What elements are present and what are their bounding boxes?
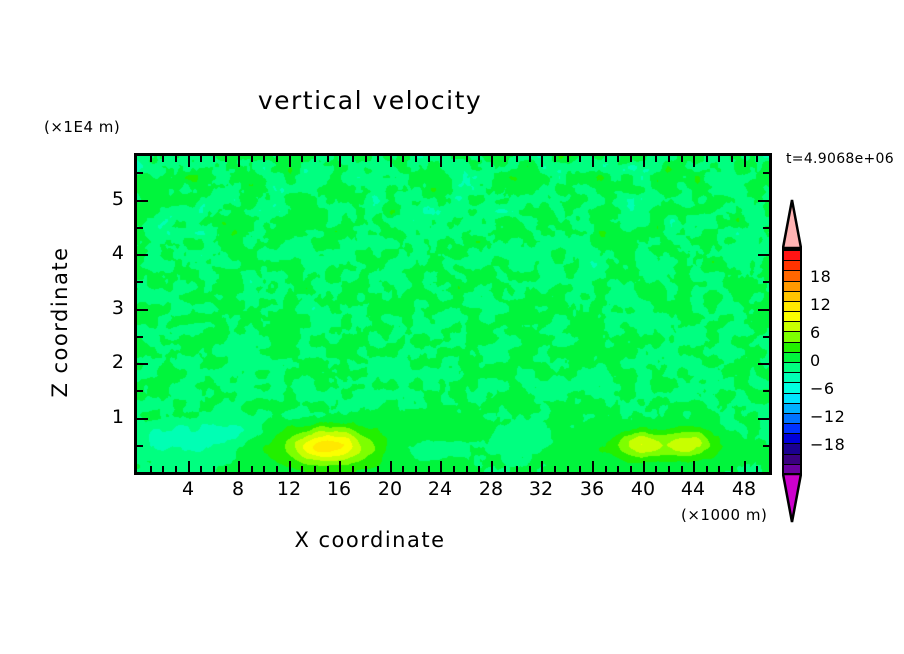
x-tick-label: 32: [521, 478, 561, 500]
tick-mark: [238, 156, 240, 167]
tick-mark: [592, 156, 594, 167]
colorbar-band: [784, 434, 800, 444]
colorbar-label: 0: [810, 351, 821, 370]
tick-mark: [668, 466, 670, 472]
tick-mark: [744, 461, 746, 472]
tick-mark: [718, 466, 720, 472]
tick-mark: [137, 390, 143, 392]
x-tick-label: 36: [572, 478, 612, 500]
tick-mark: [478, 156, 480, 162]
tick-mark: [529, 466, 531, 472]
tick-mark: [415, 466, 417, 472]
colorbar-band: [784, 353, 800, 363]
tick-mark: [428, 466, 430, 472]
y-tick-label: 3: [98, 297, 124, 319]
tick-mark: [554, 156, 556, 162]
tick-mark: [213, 156, 215, 162]
tick-mark: [617, 466, 619, 472]
tick-mark: [655, 156, 657, 162]
tick-mark: [529, 156, 531, 162]
tick-mark: [579, 156, 581, 162]
tick-mark: [289, 461, 291, 472]
colorbar-band: [784, 261, 800, 271]
tick-mark: [763, 390, 769, 392]
tick-mark: [554, 466, 556, 472]
tick-mark: [758, 254, 769, 256]
plot-title: vertical velocity: [0, 86, 740, 115]
tick-mark: [466, 466, 468, 472]
y-axis-title: Z coordinate: [48, 222, 72, 422]
tick-mark: [339, 156, 341, 167]
tick-mark: [706, 466, 708, 472]
tick-mark: [643, 461, 645, 472]
x-tick-label: 28: [471, 478, 511, 500]
x-tick-label: 48: [724, 478, 764, 500]
tick-mark: [188, 461, 190, 472]
tick-mark: [758, 309, 769, 311]
tick-mark: [390, 461, 392, 472]
tick-mark: [137, 254, 148, 256]
tick-mark: [289, 156, 291, 167]
tick-mark: [605, 156, 607, 162]
colorbar-band: [784, 282, 800, 292]
tick-mark: [213, 466, 215, 472]
tick-mark: [137, 336, 143, 338]
x-tick-label: 16: [319, 478, 359, 500]
x-tick-label: 44: [673, 478, 713, 500]
x-axis-title: X coordinate: [0, 528, 740, 552]
tick-mark: [681, 156, 683, 162]
x-tick-label: 8: [218, 478, 258, 500]
tick-mark: [365, 466, 367, 472]
tick-mark: [402, 466, 404, 472]
tick-mark: [137, 418, 148, 420]
tick-mark: [415, 156, 417, 162]
colorbar-over-arrow: [782, 199, 802, 249]
tick-mark: [377, 466, 379, 472]
tick-mark: [504, 156, 506, 162]
tick-mark: [668, 156, 670, 162]
tick-mark: [276, 466, 278, 472]
tick-mark: [655, 466, 657, 472]
tick-mark: [188, 156, 190, 167]
colorbar-band: [784, 271, 800, 281]
tick-mark: [579, 466, 581, 472]
colorbar-band: [784, 383, 800, 393]
plot-area: [134, 153, 772, 475]
tick-mark: [314, 156, 316, 162]
tick-mark: [352, 156, 354, 162]
colorbar: [779, 199, 805, 523]
tick-mark: [263, 156, 265, 162]
tick-mark: [763, 172, 769, 174]
tick-mark: [175, 156, 177, 162]
tick-mark: [758, 200, 769, 202]
tick-mark: [175, 466, 177, 472]
tick-mark: [402, 156, 404, 162]
x-tick-label: 24: [420, 478, 460, 500]
colorbar-band: [784, 444, 800, 454]
tick-mark: [744, 156, 746, 167]
y-axis-unit-label: (×1E4 m): [44, 118, 120, 136]
tick-mark: [428, 156, 430, 162]
tick-mark: [763, 336, 769, 338]
tick-mark: [162, 466, 164, 472]
tick-mark: [200, 156, 202, 162]
y-tick-label: 4: [98, 242, 124, 264]
tick-mark: [643, 156, 645, 167]
tick-mark: [478, 466, 480, 472]
colorbar-band: [784, 404, 800, 414]
colorbar-band: [784, 332, 800, 342]
tick-mark: [605, 466, 607, 472]
y-tick-label: 2: [98, 351, 124, 373]
tick-mark: [758, 363, 769, 365]
tick-mark: [225, 156, 227, 162]
colorbar-band: [784, 424, 800, 434]
tick-mark: [440, 156, 442, 167]
x-tick-label: 4: [168, 478, 208, 500]
tick-mark: [756, 156, 758, 162]
tick-mark: [137, 309, 148, 311]
x-tick-label: 20: [370, 478, 410, 500]
contour-field-canvas: [137, 156, 769, 472]
tick-mark: [150, 156, 152, 162]
tick-mark: [137, 200, 148, 202]
tick-mark: [365, 156, 367, 162]
colorbar-band: [784, 414, 800, 424]
tick-mark: [137, 363, 148, 365]
x-tick-label: 40: [623, 478, 663, 500]
tick-mark: [504, 466, 506, 472]
tick-mark: [225, 466, 227, 472]
timestamp-annotation: t=4.9068e+06: [786, 151, 894, 167]
tick-mark: [162, 156, 164, 162]
colorbar-label: −12: [810, 407, 845, 426]
tick-mark: [491, 156, 493, 167]
tick-mark: [567, 466, 569, 472]
colorbar-band: [784, 322, 800, 332]
tick-mark: [731, 156, 733, 162]
under-arrow-shape: [782, 473, 802, 523]
colorbar-band: [784, 373, 800, 383]
colorbar-band: [784, 455, 800, 465]
y-tick-label: 5: [98, 188, 124, 210]
tick-mark: [137, 281, 143, 283]
tick-mark: [541, 156, 543, 167]
tick-mark: [567, 156, 569, 162]
tick-mark: [466, 156, 468, 162]
tick-mark: [263, 466, 265, 472]
tick-mark: [251, 466, 253, 472]
tick-mark: [756, 466, 758, 472]
tick-mark: [238, 461, 240, 472]
x-axis-unit-label: (×1000 m): [681, 506, 767, 524]
colorbar-band: [784, 251, 800, 261]
tick-mark: [440, 461, 442, 472]
colorbar-label: −6: [810, 379, 835, 398]
tick-mark: [339, 461, 341, 472]
colorbar-band: [784, 363, 800, 373]
tick-mark: [137, 445, 143, 447]
tick-mark: [763, 227, 769, 229]
tick-mark: [327, 156, 329, 162]
tick-mark: [251, 156, 253, 162]
tick-mark: [617, 156, 619, 162]
x-tick-label: 12: [269, 478, 309, 500]
colorbar-bands: [782, 249, 802, 473]
tick-mark: [763, 445, 769, 447]
tick-mark: [706, 156, 708, 162]
colorbar-label: 6: [810, 323, 821, 342]
tick-mark: [516, 156, 518, 162]
tick-mark: [541, 461, 543, 472]
tick-mark: [390, 156, 392, 167]
colorbar-band: [784, 394, 800, 404]
over-arrow-shape: [782, 199, 802, 249]
tick-mark: [137, 227, 143, 229]
tick-mark: [758, 418, 769, 420]
tick-mark: [681, 466, 683, 472]
colorbar-label: 12: [810, 295, 831, 314]
colorbar-label: 18: [810, 267, 831, 286]
tick-mark: [630, 156, 632, 162]
tick-mark: [731, 466, 733, 472]
tick-mark: [301, 466, 303, 472]
colorbar-label: −18: [810, 435, 845, 454]
colorbar-band: [784, 312, 800, 322]
tick-mark: [314, 466, 316, 472]
colorbar-band: [784, 343, 800, 353]
tick-mark: [630, 466, 632, 472]
tick-mark: [693, 156, 695, 167]
tick-mark: [491, 461, 493, 472]
colorbar-band: [784, 302, 800, 312]
tick-mark: [276, 156, 278, 162]
tick-mark: [693, 461, 695, 472]
tick-mark: [516, 466, 518, 472]
y-tick-label: 1: [98, 406, 124, 428]
tick-mark: [453, 466, 455, 472]
tick-mark: [327, 466, 329, 472]
tick-mark: [301, 156, 303, 162]
tick-mark: [453, 156, 455, 162]
tick-mark: [352, 466, 354, 472]
colorbar-under-arrow: [782, 473, 802, 523]
tick-mark: [200, 466, 202, 472]
tick-mark: [137, 172, 143, 174]
tick-mark: [150, 466, 152, 472]
contour-plot-figure: vertical velocity (×1E4 m) (×1000 m) X c…: [0, 0, 904, 654]
tick-mark: [718, 156, 720, 162]
tick-mark: [592, 461, 594, 472]
colorbar-band: [784, 292, 800, 302]
tick-mark: [763, 281, 769, 283]
tick-mark: [377, 156, 379, 162]
